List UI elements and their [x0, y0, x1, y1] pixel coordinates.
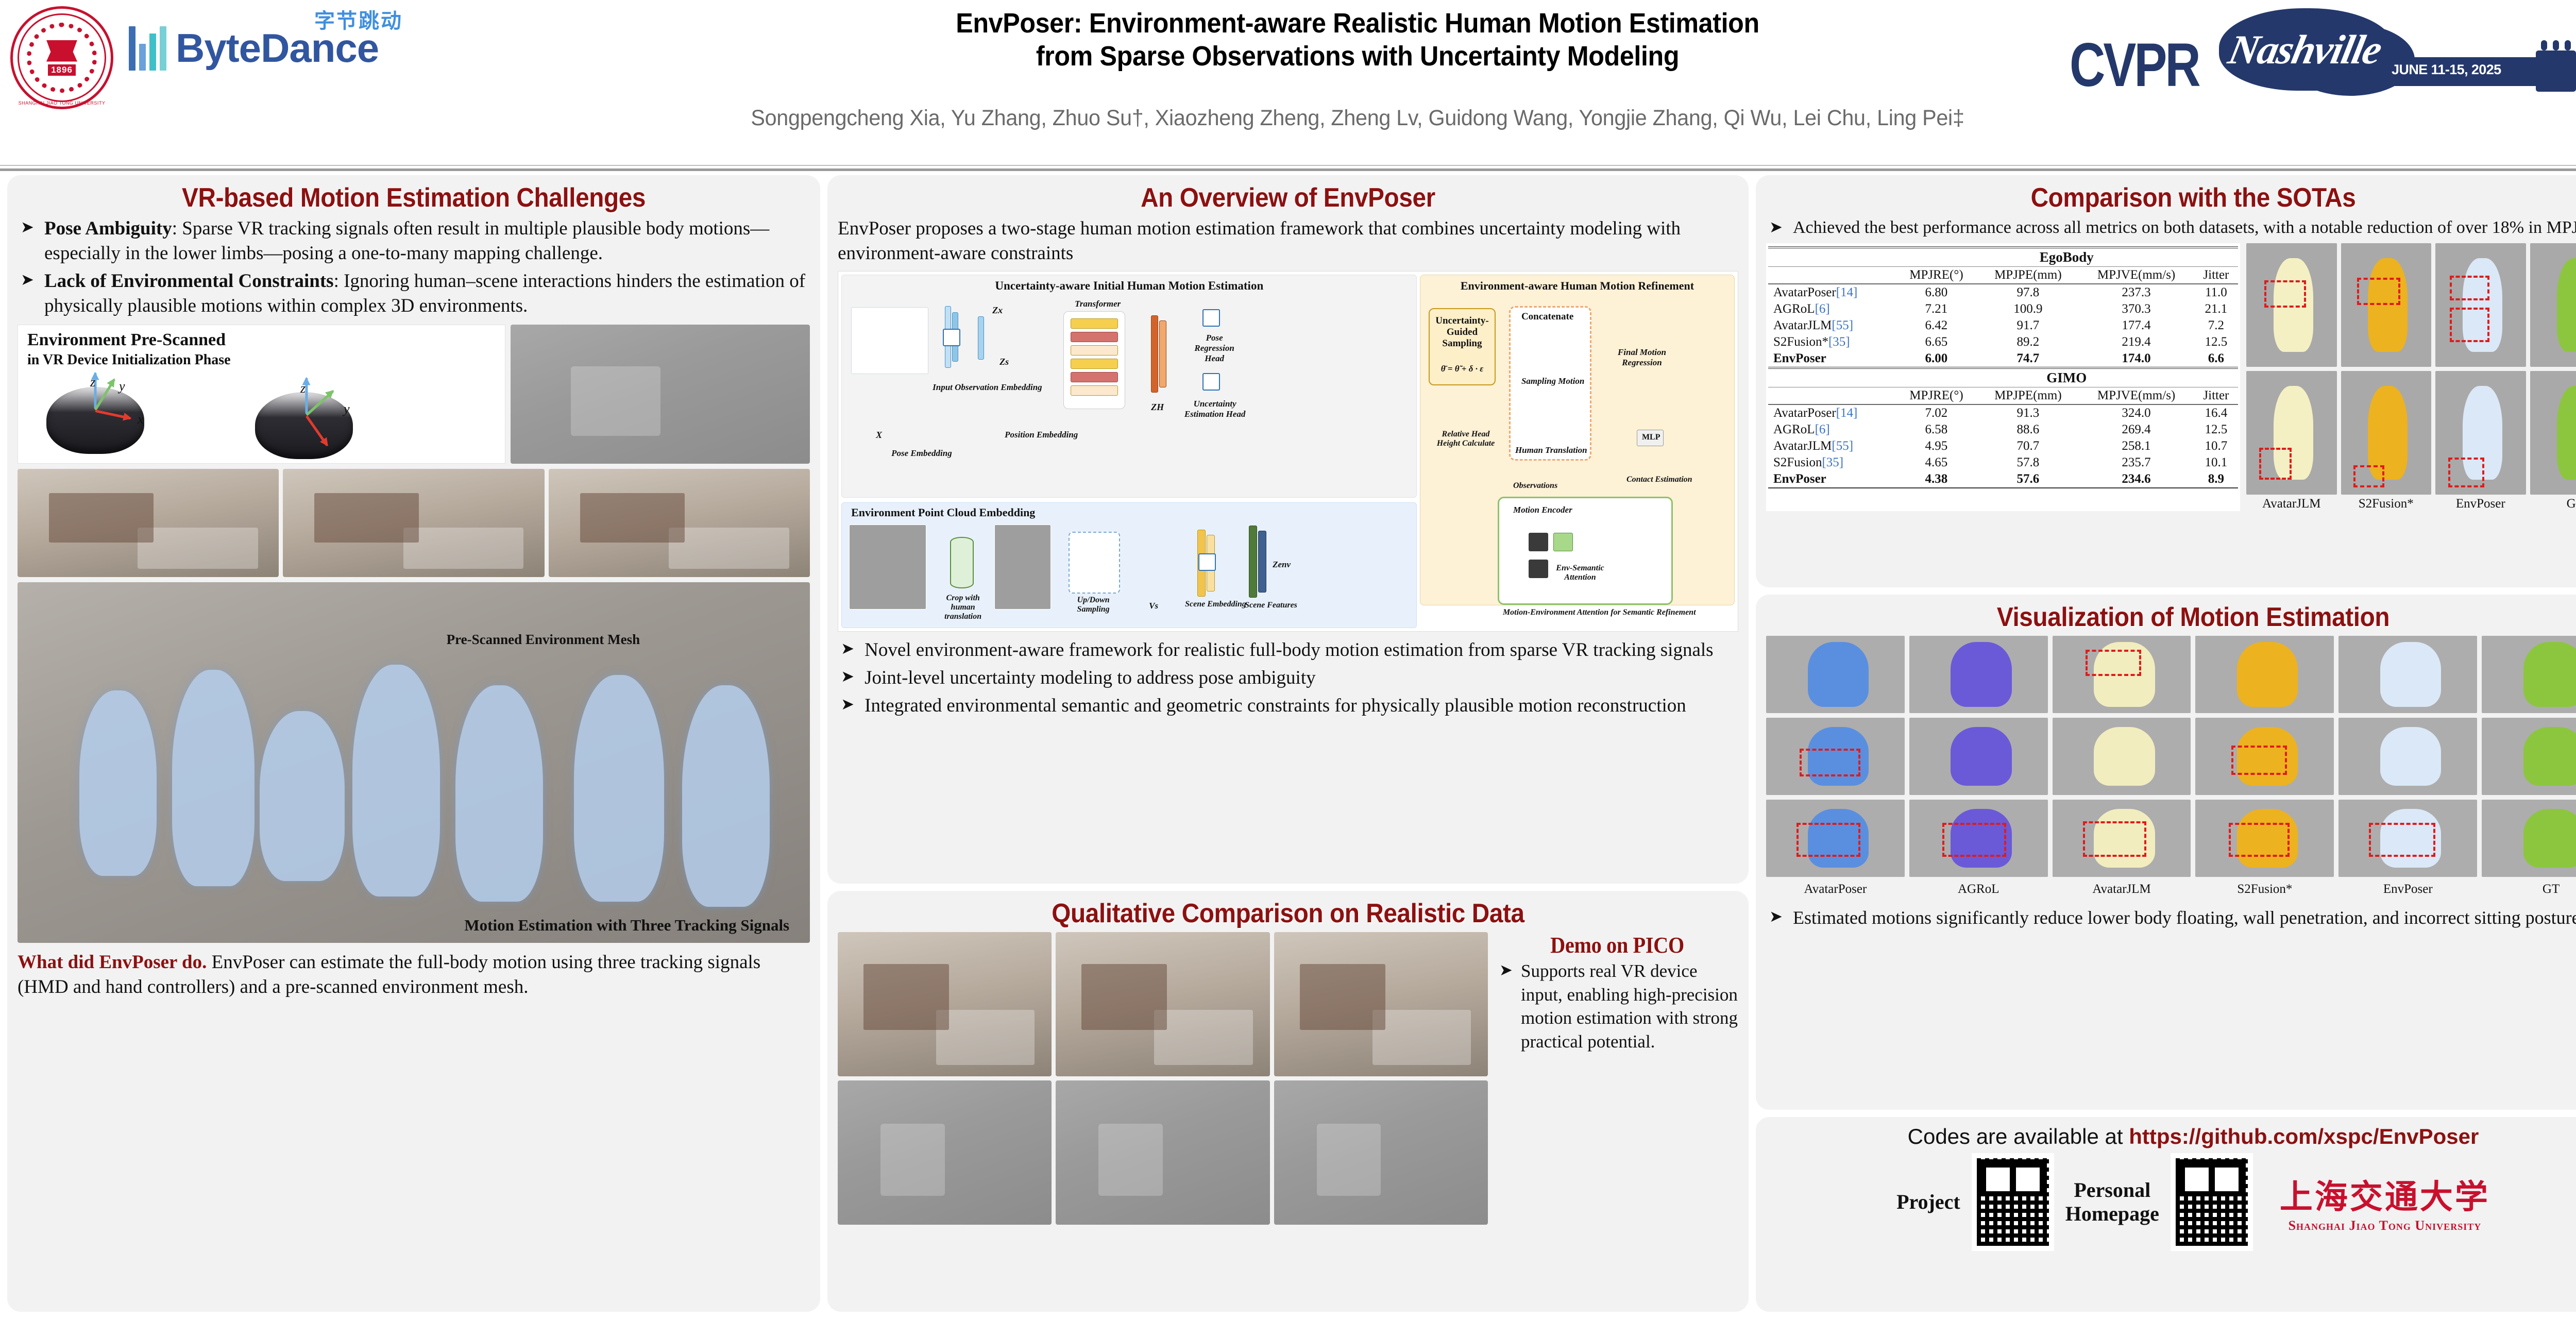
seal-year: 1896	[48, 64, 76, 76]
col-header-mpjpe: MPJPE(mm)	[1977, 267, 2078, 284]
table-row: AvatarJLM[55] 4.95 70.7 258.1 10.7	[1768, 438, 2238, 454]
label-scene-features: Scene Features	[1245, 601, 1297, 610]
thumb-label-gt: GT	[2530, 497, 2576, 511]
cell-value: 237.3	[2078, 284, 2194, 301]
list-item: Pose Ambiguity: Sparse VR tracking signa…	[18, 216, 810, 266]
cell-value: 324.0	[2078, 404, 2194, 421]
mesh-thumbnail	[2246, 371, 2337, 495]
list-item: Estimated motions significantly reduce l…	[1766, 906, 2576, 930]
list-item: Supports real VR device input, enabling …	[1496, 959, 1738, 1053]
thumb-label-avatarjlm: AvatarJLM	[2246, 497, 2337, 511]
mesh-thumbnail	[2530, 371, 2576, 495]
bullet-1-bold: Pose Ambiguity	[44, 218, 172, 239]
sjtu-english-name: Shanghai Jiao Tong University	[2280, 1218, 2490, 1233]
col-header-mpjve: MPJVE(mm/s)	[2078, 387, 2194, 405]
vr-figure-title: Environment Pre-Scanned	[27, 330, 226, 350]
vis-cell	[2053, 636, 2191, 713]
qr-row: Project Personal Homepage 上海交通大学 Shangha…	[1766, 1153, 2576, 1251]
card-comparison: Comparison with the SOTAs Achieved the b…	[1756, 175, 2576, 587]
cell-value: 6.00	[1895, 350, 1977, 368]
symbol-Vs: Vs	[1149, 601, 1158, 611]
stage2-panel: Environment-aware Human Motion Refinemen…	[1420, 275, 1735, 605]
bytedance-mark-icon	[129, 26, 166, 71]
vis-cell	[2195, 718, 2334, 795]
qr-code-project[interactable]	[1972, 1153, 2054, 1251]
row-method: S2Fusion[35]	[1768, 454, 1895, 471]
vis-cell	[1766, 800, 1905, 877]
comparison-content-row: EgoBody MPJRE(°) MPJPE(mm) MPJVE(mm/s) J…	[1766, 243, 2576, 511]
title-line-2: from Sparse Observations with Uncertaint…	[708, 40, 2007, 73]
demo-photo	[838, 932, 1052, 1076]
cell-value: 8.9	[2194, 471, 2238, 488]
axis-label-y: y	[119, 379, 125, 394]
cell-value: 177.4	[2078, 317, 2194, 334]
author-list: Songpengcheng Xia, Yu Zhang, Zhuo Su†, X…	[188, 106, 2528, 131]
seal-university-text: SHANGHAI JIAO TONG UNIVERSITY	[10, 100, 113, 106]
symbol-Zx: Zx	[992, 305, 1003, 316]
label-crop-with-human-translation: Crop with human translation	[941, 594, 985, 621]
card-qualitative: Qualitative Comparison on Realistic Data	[827, 891, 1749, 1312]
table-row: EgoBody	[1768, 247, 2238, 267]
vis-label-s2fusion: S2Fusion*	[2195, 882, 2334, 897]
comparison-heading: Comparison with the SOTAs	[1800, 182, 2576, 213]
row-method: AvatarPoser[14]	[1768, 284, 1895, 301]
column-middle: An Overview of EnvPoser EnvPoser propose…	[827, 175, 1749, 1319]
demo-photo	[1274, 932, 1488, 1076]
row-method: EnvPoser	[1768, 350, 1895, 368]
list-item: Integrated environmental semantic and ge…	[838, 694, 1738, 718]
qr-homepage-label: Personal Homepage	[2065, 1178, 2159, 1226]
col-header-mpjre: MPJRE(°)	[1895, 387, 1977, 405]
symbol-Zenv: Zenv	[1273, 560, 1291, 570]
sampling-equation: θ̄ = θ̃ + δ · ε	[1434, 364, 1490, 374]
table-row: AvatarJLM[55] 6.42 91.7 177.4 7.2	[1768, 317, 2238, 334]
cell-value: 100.9	[1977, 301, 2078, 317]
row-method: AvatarJLM[55]	[1768, 317, 1895, 334]
comparison-thumbnail-grid: AvatarJLM S2Fusion* EnvPoser GT	[2246, 243, 2576, 511]
label-pose-embedding: Pose Embedding	[891, 448, 952, 459]
thumb-label-s2fusion: S2Fusion*	[2341, 497, 2432, 511]
demo-pico-panel: Demo on PICO Supports real VR device inp…	[1496, 932, 1738, 1225]
cell-value: 89.2	[1977, 334, 2078, 350]
cell-value: 7.21	[1895, 301, 1977, 317]
architecture-diagram: Uncertainty-aware Initial Human Motion E…	[838, 271, 1738, 632]
hmd-headset-icon	[255, 392, 353, 459]
cell-value: 57.6	[1977, 471, 2078, 488]
table-row: AvatarPoser[14] 7.02 91.3 324.0 16.4	[1768, 404, 2238, 421]
row-method: AGRoL[6]	[1768, 301, 1895, 317]
card-visualization: Visualization of Motion Estimation	[1756, 595, 2576, 1110]
demo-bullet-list: Supports real VR device input, enabling …	[1496, 959, 1738, 1053]
table-row: AGRoL[6] 6.58 88.6 269.4 12.5	[1768, 421, 2238, 438]
overview-intro: EnvPoser proposes a two-stage human moti…	[838, 216, 1738, 266]
cell-value: 6.6	[2194, 350, 2238, 368]
visualization-heading: Visualization of Motion Estimation	[1800, 602, 2576, 633]
prescanned-mesh-preview	[511, 325, 810, 464]
results-table: EgoBody MPJRE(°) MPJPE(mm) MPJVE(mm/s) J…	[1768, 246, 2238, 488]
visualization-row-2	[1766, 718, 2576, 795]
visualization-row-3	[1766, 800, 2576, 877]
cell-value: 70.7	[1977, 438, 2078, 454]
results-table-wrapper: EgoBody MPJRE(°) MPJPE(mm) MPJVE(mm/s) J…	[1766, 243, 2240, 511]
symbol-ZH: ZH	[1151, 402, 1164, 413]
title-line-1: EnvPoser: Environment-aware Realistic Hu…	[708, 7, 2007, 40]
label-concatenate: Concatenate	[1521, 311, 1573, 323]
cell-value: 219.4	[2078, 334, 2194, 350]
cell-value: 74.7	[1977, 350, 2078, 368]
cell-value: 234.6	[2078, 471, 2194, 488]
cell-value: 4.38	[1895, 471, 1977, 488]
envposer-summary: What did EnvPoser do. EnvPoser can estim…	[18, 950, 810, 1000]
row-method: AGRoL[6]	[1768, 421, 1895, 438]
label-scene-embedding: Scene Embedding	[1185, 600, 1246, 609]
stage1-panel: Uncertainty-aware Initial Human Motion E…	[841, 275, 1417, 498]
poster-root: 1896 SHANGHAI JIAO TONG UNIVERSITY ByteD…	[0, 0, 2576, 1319]
stage3-panel: Environment Point Cloud Embedding Crop w…	[841, 502, 1417, 628]
cell-value: 370.3	[2078, 301, 2194, 317]
room-photo-strip	[18, 469, 810, 577]
label-up-down-sampling: Up/Down Sampling	[1067, 596, 1119, 614]
label-position-embedding: Position Embedding	[1005, 430, 1078, 440]
scene-mesh-caption: Pre-Scanned Environment Mesh	[447, 632, 640, 648]
challenges-heading: VR-based Motion Estimation Challenges	[49, 182, 778, 213]
overview-heading: An Overview of EnvPoser	[874, 182, 1702, 213]
room-photo	[549, 469, 810, 577]
label-motion-encoder: Motion Encoder	[1513, 505, 1572, 515]
vis-cell	[2053, 718, 2191, 795]
poster-body: VR-based Motion Estimation Challenges Po…	[0, 175, 2576, 1319]
mesh-thumbnail	[2435, 243, 2526, 367]
vis-label-envposer: EnvPoser	[2338, 882, 2477, 897]
cell-value: 10.1	[2194, 454, 2238, 471]
visualization-row-1	[1766, 636, 2576, 713]
vis-cell	[2053, 800, 2191, 877]
group-header-gimo: GIMO	[1895, 368, 2238, 387]
stage2-title: Environment-aware Human Motion Refinemen…	[1461, 279, 1694, 293]
room-photo	[283, 469, 544, 577]
motion-estimation-scene: Pre-Scanned Environment Mesh Motion Esti…	[18, 582, 810, 943]
demo-photo	[1056, 932, 1269, 1076]
scene-bottom-caption: Motion Estimation with Three Tracking Si…	[464, 916, 789, 935]
table-row: S2Fusion*[35] 6.65 89.2 219.4 12.5	[1768, 334, 2238, 350]
demo-mesh	[1274, 1080, 1488, 1225]
qr-homepage-label-line2: Homepage	[2065, 1202, 2159, 1226]
cell-value: 11.0	[2194, 284, 2238, 301]
bullet-2-bold: Lack of Environmental Constraints	[44, 270, 334, 292]
visualization-column-labels: AvatarPoser AGRoL AvatarJLM S2Fusion* En…	[1766, 880, 2576, 897]
cell-value: 12.5	[2194, 421, 2238, 438]
vis-cell	[1766, 718, 1905, 795]
room-photo	[18, 469, 279, 577]
cell-value: 7.02	[1895, 404, 1977, 421]
symbol-Zs: Zs	[999, 357, 1009, 367]
col-header-jitter: Jitter	[2194, 387, 2238, 405]
label-observations: Observations	[1513, 481, 1557, 491]
vis-cell	[2338, 800, 2477, 877]
table-row: EnvPoser 6.00 74.7 174.0 6.6	[1768, 350, 2238, 368]
github-url[interactable]: https://github.com/xspc/EnvPoser	[2129, 1124, 2479, 1148]
card-challenges: VR-based Motion Estimation Challenges Po…	[7, 175, 820, 1312]
poster-header: 1896 SHANGHAI JIAO TONG UNIVERSITY ByteD…	[0, 0, 2576, 171]
cell-value: 91.3	[1977, 404, 2078, 421]
label-sampling-motion: Sampling Motion	[1521, 376, 1584, 386]
mesh-thumbnail	[2341, 243, 2432, 367]
poster-title: EnvPoser: Environment-aware Realistic Hu…	[659, 7, 2056, 73]
overview-bullet-list: Novel environment-aware framework for re…	[838, 638, 1738, 718]
cell-value: 174.0	[2078, 350, 2194, 368]
vis-label-gt: GT	[2482, 882, 2576, 897]
label-pose-regression-head: Pose Regression Head	[1186, 333, 1243, 364]
table-row: GIMO	[1768, 368, 2238, 387]
row-method: S2Fusion*[35]	[1768, 334, 1895, 350]
table-row: MPJRE(°) MPJPE(mm) MPJVE(mm/s) Jitter	[1768, 387, 2238, 405]
mesh-thumbnail	[2341, 371, 2432, 495]
vis-cell	[2195, 636, 2334, 713]
cell-value: 6.80	[1895, 284, 1977, 301]
vis-label-avatarjlm: AvatarJLM	[2053, 882, 2191, 897]
cell-value: 6.42	[1895, 317, 1977, 334]
vis-cell	[1909, 800, 2048, 877]
cell-value: 7.2	[2194, 317, 2238, 334]
challenges-bullet-list: Pose Ambiguity: Sparse VR tracking signa…	[18, 216, 810, 318]
vis-cell	[1909, 718, 2048, 795]
card-codes: Codes are available at https://github.co…	[1756, 1117, 2576, 1312]
vis-cell	[2482, 718, 2576, 795]
vis-cell	[2482, 636, 2576, 713]
comparison-bullet-list: Achieved the best performance across all…	[1766, 216, 2576, 239]
axis-label-x: x	[138, 412, 144, 427]
label-relative-head-height: Relative Head Height Calculate	[1430, 430, 1502, 448]
cell-value: 57.8	[1977, 454, 2078, 471]
sjtu-seal-logo: 1896 SHANGHAI JIAO TONG UNIVERSITY	[10, 6, 113, 109]
qr-code-homepage[interactable]	[2171, 1153, 2253, 1251]
stage1-title: Uncertainty-aware Initial Human Motion E…	[995, 279, 1263, 293]
stage3-title: Environment Point Cloud Embedding	[851, 506, 1035, 519]
cell-value: 97.8	[1977, 284, 2078, 301]
cell-value: 88.6	[1977, 421, 2078, 438]
qualitative-image-grid	[838, 932, 1488, 1225]
cell-value: 6.58	[1895, 421, 1977, 438]
axis-label-z: z	[90, 375, 95, 390]
summary-highlight: What did EnvPoser do.	[18, 952, 207, 973]
sjtu-wordmark: 上海交通大学 Shanghai Jiao Tong University	[2280, 1171, 2490, 1233]
row-method: AvatarPoser[14]	[1768, 404, 1895, 421]
mesh-thumbnail	[2435, 371, 2526, 495]
label-env-semantic-attention: Env-Semantic Attention	[1549, 564, 1611, 582]
list-item: Joint-level uncertainty modeling to addr…	[838, 666, 1738, 690]
cell-value: 258.1	[2078, 438, 2194, 454]
vis-label-avatarposer: AvatarPoser	[1766, 882, 1905, 897]
vr-figure-subtitle: in VR Device Initialization Phase	[27, 352, 231, 368]
label-final-motion-regression: Final Motion Regression	[1611, 347, 1673, 368]
table-row: MPJRE(°) MPJPE(mm) MPJVE(mm/s) Jitter	[1768, 267, 2238, 284]
label-input-observation-embedding: Input Observation Embedding	[933, 382, 1042, 393]
col-header-mpjve: MPJVE(mm/s)	[2078, 267, 2194, 284]
label-uncertainty-estimation-head: Uncertainty Estimation Head	[1184, 399, 1246, 419]
cell-value: 4.65	[1895, 454, 1977, 471]
vis-cell	[2338, 718, 2477, 795]
cell-value: 91.7	[1977, 317, 2078, 334]
vis-label-agrol: AGRoL	[1909, 882, 2048, 897]
qualitative-heading: Qualitative Comparison on Realistic Data	[874, 898, 1702, 929]
demo-mesh	[838, 1080, 1052, 1225]
vis-cell	[1909, 636, 2048, 713]
cell-value: 4.95	[1895, 438, 1977, 454]
vis-cell	[2338, 636, 2477, 713]
group-header-egobody: EgoBody	[1895, 247, 2238, 267]
table-row: EnvPoser 4.38 57.6 234.6 8.9	[1768, 471, 2238, 488]
cvpr-wordmark: CVPR	[2070, 30, 2199, 101]
vr-initialization-panel: Environment Pre-Scanned in VR Device Ini…	[18, 325, 505, 464]
list-item: Achieved the best performance across all…	[1766, 216, 2576, 239]
col-header-jitter: Jitter	[2194, 267, 2238, 284]
table-row: S2Fusion[35] 4.65 57.8 235.7 10.1	[1768, 454, 2238, 471]
axis-label-y: y	[344, 401, 350, 417]
cell-value: 235.7	[2078, 454, 2194, 471]
label-transformer: Transformer	[1075, 299, 1121, 309]
card-overview: An Overview of EnvPoser EnvPoser propose…	[827, 175, 1749, 884]
list-item: Novel environment-aware framework for re…	[838, 638, 1738, 663]
row-method: EnvPoser	[1768, 471, 1895, 488]
cell-value: 269.4	[2078, 421, 2194, 438]
label-human-translation: Human Translation	[1515, 445, 1587, 455]
demo-heading: Demo on PICO	[1506, 932, 1728, 958]
codes-prefix: Codes are available at	[1908, 1124, 2129, 1148]
mesh-thumbnail	[2530, 243, 2576, 367]
table-row: AGRoL[6] 7.21 100.9 370.3 21.1	[1768, 301, 2238, 317]
thumb-label-envposer: EnvPoser	[2435, 497, 2526, 511]
column-right: Comparison with the SOTAs Achieved the b…	[1756, 175, 2576, 1319]
qualitative-demo-row: Demo on PICO Supports real VR device inp…	[838, 932, 1738, 1225]
row-method: AvatarJLM[55]	[1768, 438, 1895, 454]
sjtu-chinese-name: 上海交通大学	[2280, 1171, 2490, 1218]
bytedance-chinese-name: 字节跳动	[314, 4, 403, 34]
col-header-mpjpe: MPJPE(mm)	[1977, 387, 2078, 405]
cell-value: 21.1	[2194, 301, 2238, 317]
axis-label-z: z	[300, 381, 306, 396]
vis-cell	[2482, 800, 2576, 877]
cvpr-logo: CVPR Nashville JUNE 11-15, 2025	[2070, 8, 2576, 100]
demo-mesh	[1056, 1080, 1269, 1225]
cell-value: 10.7	[2194, 438, 2238, 454]
vis-cell	[2195, 800, 2334, 877]
figure-vr-prescan: Environment Pre-Scanned in VR Device Ini…	[18, 325, 810, 464]
cell-value: 16.4	[2194, 404, 2238, 421]
qr-project-label: Project	[1896, 1190, 1960, 1214]
label-mlp: MLP	[1642, 433, 1660, 442]
qr-homepage-label-line1: Personal	[2065, 1178, 2159, 1202]
label-contact-estimation: Contact Estimation	[1626, 475, 1692, 484]
cvpr-dates: JUNE 11-15, 2025	[2392, 62, 2501, 78]
mesh-thumbnail	[2246, 243, 2337, 367]
column-left: VR-based Motion Estimation Challenges Po…	[7, 175, 820, 1319]
vis-cell	[1766, 636, 1905, 713]
symbol-X: X	[876, 430, 882, 441]
label-uncertainty-guided-sampling: Uncertainty-Guided Sampling	[1434, 315, 1490, 349]
visualization-bullet-list: Estimated motions significantly reduce l…	[1766, 906, 2576, 930]
table-row: AvatarPoser[14] 6.80 97.8 237.3 11.0	[1768, 284, 2238, 301]
codes-availability-line: Codes are available at https://github.co…	[1766, 1124, 2576, 1149]
list-item: Lack of Environmental Constraints: Ignor…	[18, 269, 810, 318]
cell-value: 6.65	[1895, 334, 1977, 350]
label-motion-env-attention: Motion-Environment Attention for Semanti…	[1503, 608, 1696, 617]
cvpr-city-script: Nashville	[2224, 27, 2385, 74]
cell-value: 12.5	[2194, 334, 2238, 350]
col-header-mpjre: MPJRE(°)	[1895, 267, 1977, 284]
